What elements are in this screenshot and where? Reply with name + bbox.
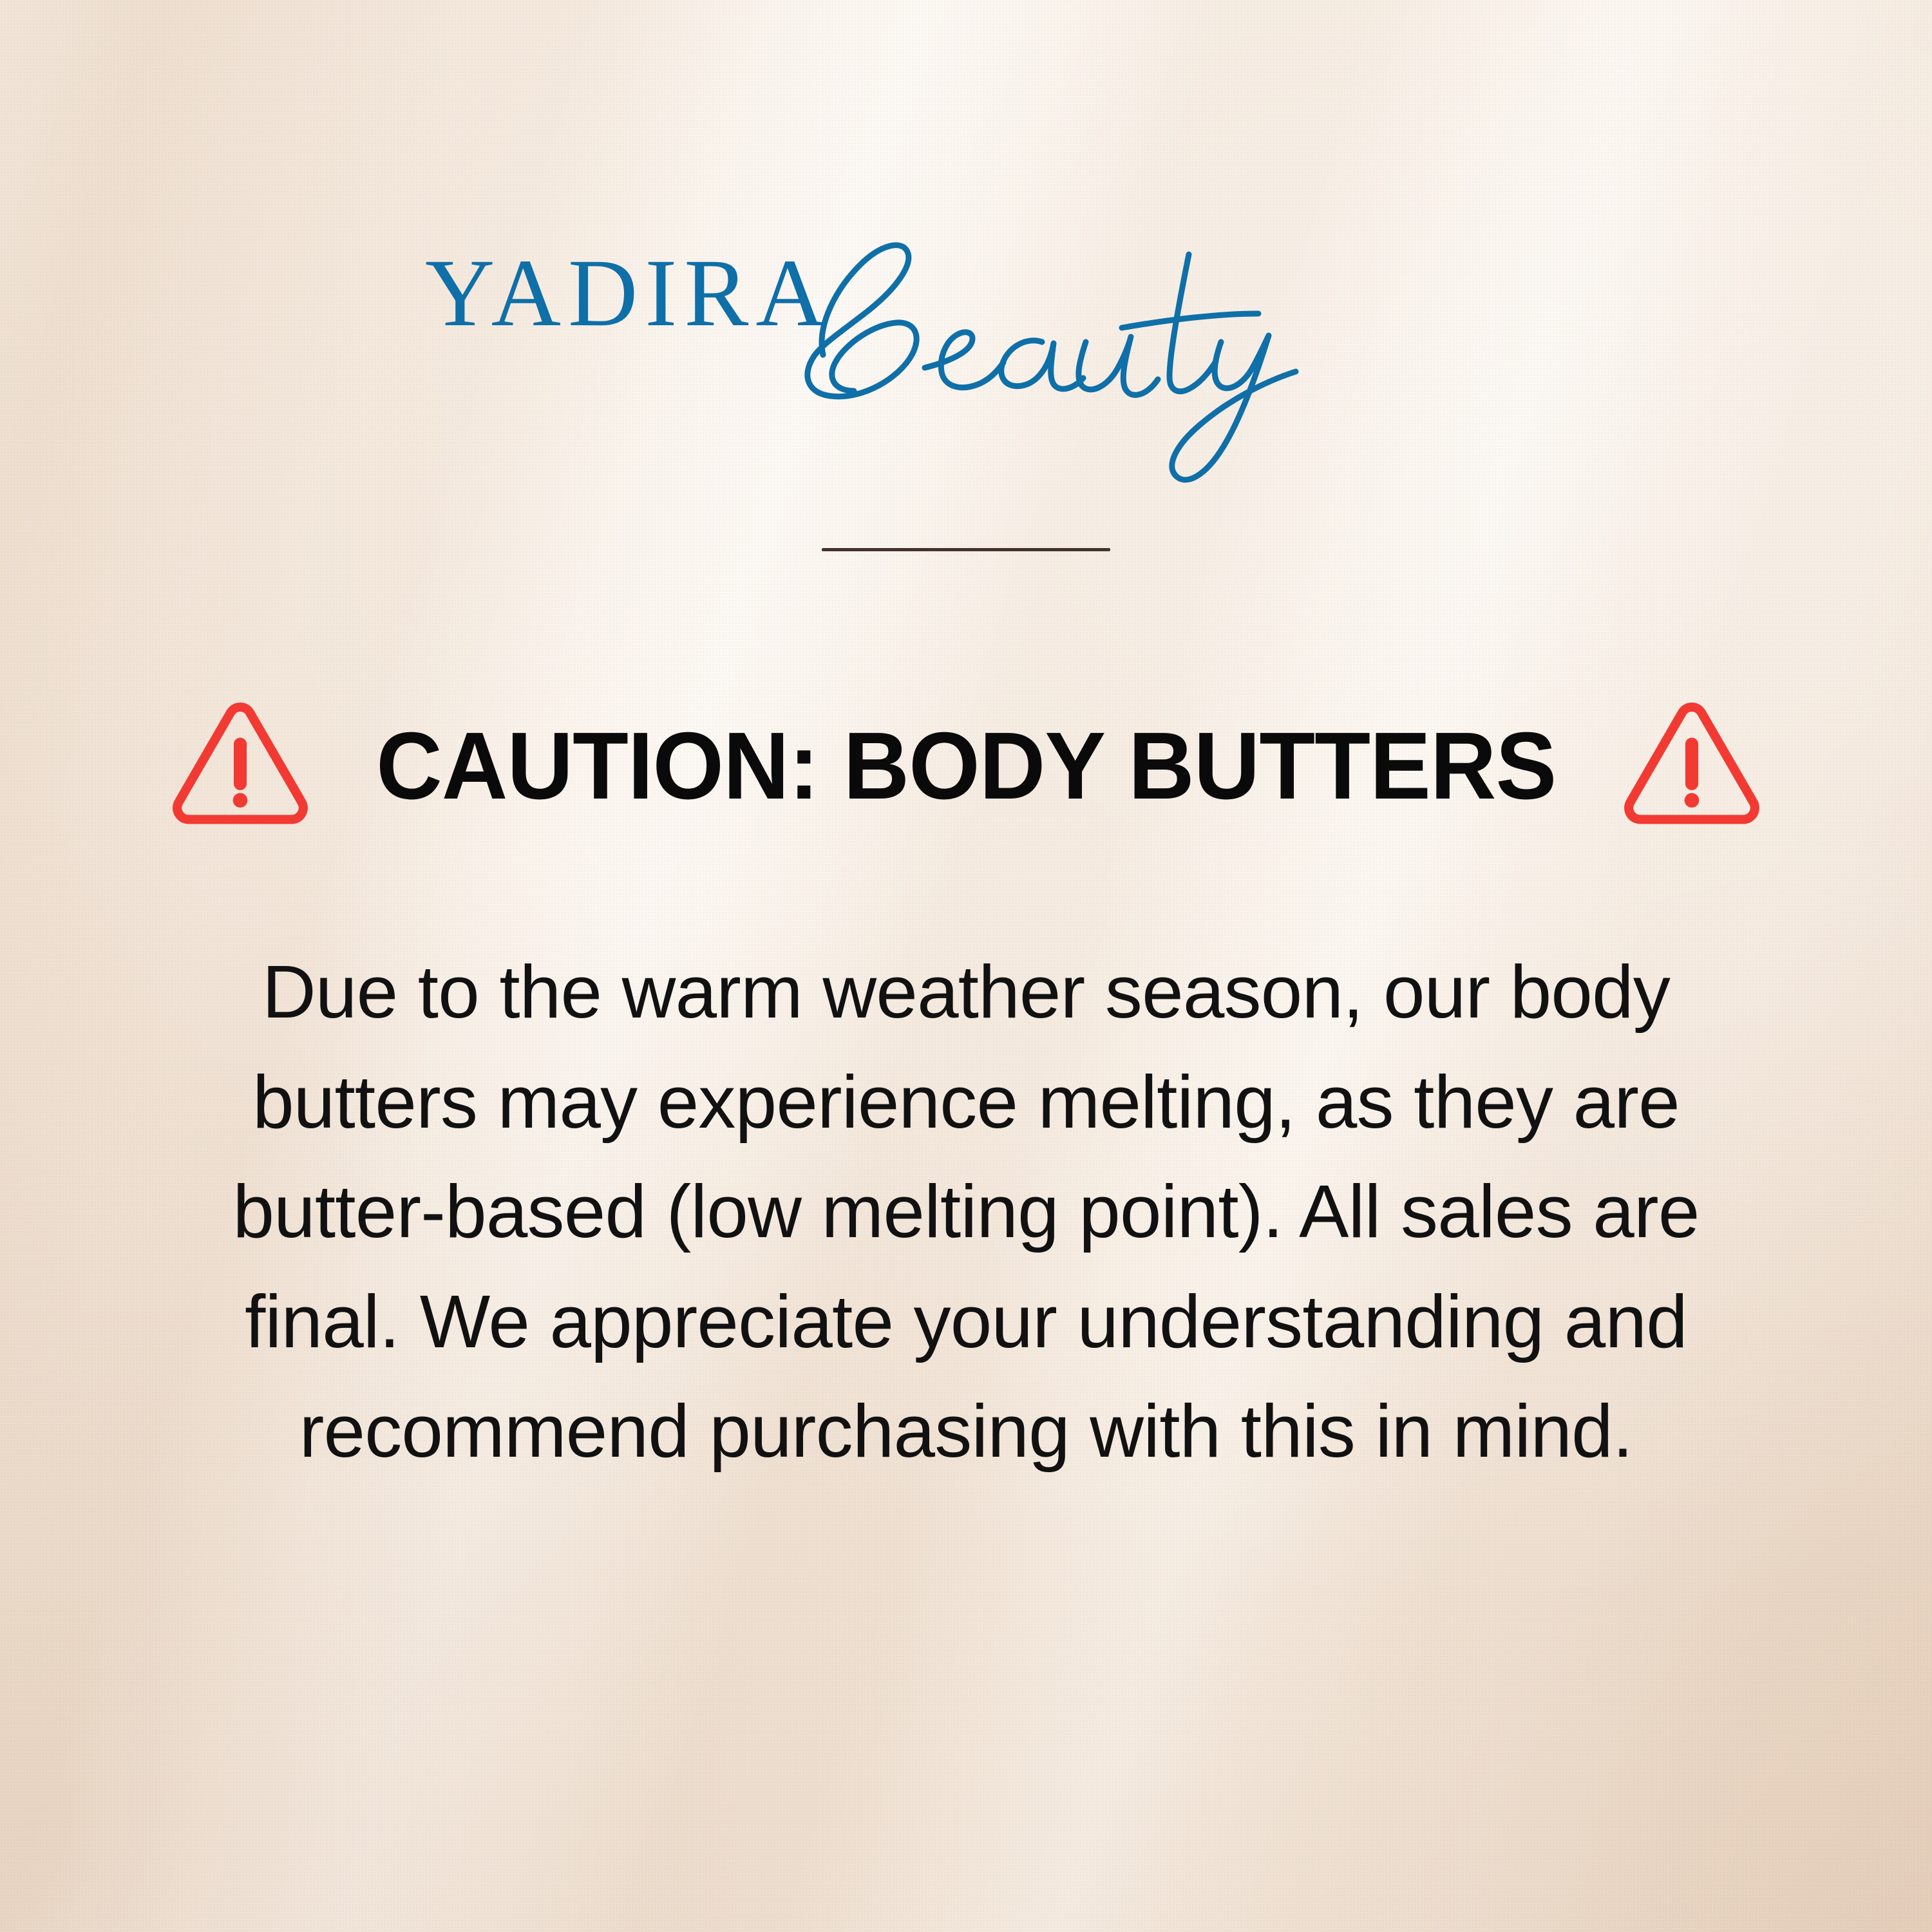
brand-name-serif: YADIRA	[425, 240, 833, 346]
brand-name-script	[808, 245, 1296, 480]
warning-triangle-icon	[1618, 702, 1766, 831]
warning-triangle-icon	[166, 702, 314, 831]
brand-logo: YADIRA	[0, 229, 1932, 486]
announcement-body-text: Due to the warm weather season, our body…	[187, 937, 1745, 1486]
headline-row: CAUTION: BODY BUTTERS	[0, 692, 1932, 840]
announcement-graphic: YADIRA	[0, 0, 1932, 1932]
page-title: CAUTION: BODY BUTTERS	[376, 719, 1556, 814]
brand-logo-svg: YADIRA	[419, 229, 1513, 486]
announcement-body: Due to the warm weather season, our body…	[187, 937, 1745, 1486]
divider-rule	[822, 548, 1110, 551]
